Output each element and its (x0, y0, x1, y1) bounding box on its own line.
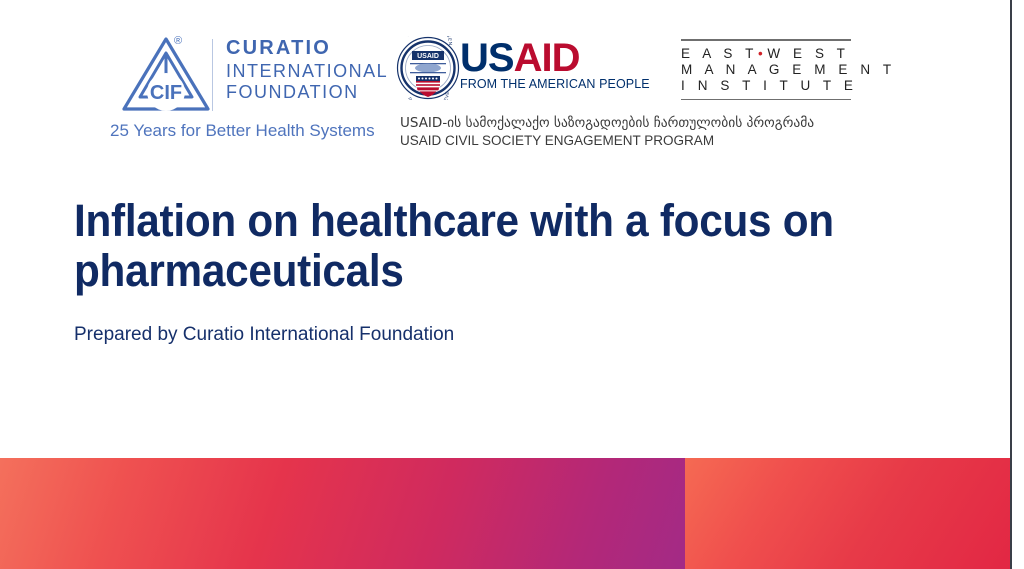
curatio-logo: CIF ® CURATIO INTERNATIONAL FOUNDATION 2… (108, 33, 378, 153)
usaid-logo: UNITED STATES AGENCY INTERNATIONAL DEVEL… (396, 36, 621, 104)
ewmi-line-1-east: E A S T (681, 46, 758, 61)
logo-divider (212, 39, 213, 111)
slide-right-border (1010, 0, 1012, 569)
svg-text:CIF: CIF (150, 82, 182, 104)
usaid-tagline: FROM THE AMERICAN PEOPLE (460, 77, 620, 91)
curatio-wordmark: CURATIO INTERNATIONAL FOUNDATION (226, 37, 376, 103)
program-name-block: USAID-ის სამოქალაქო საზოგადოების ჩართულო… (400, 114, 920, 150)
slide-right-gutter (1012, 0, 1024, 569)
ewmi-line-1-west: W E S T (767, 46, 849, 61)
curatio-wordmark-line-1: CURATIO (226, 37, 376, 61)
ewmi-logo: E A S T•W E S T M A N A G E M E N T I N … (681, 39, 851, 101)
cif-triangle-mark-icon: CIF (120, 35, 212, 113)
ewmi-line-3: I N S T I T U T E (681, 78, 851, 94)
usaid-seal-icon: UNITED STATES AGENCY INTERNATIONAL DEVEL… (396, 36, 460, 100)
registered-trademark-icon: ® (174, 35, 182, 47)
title-block: Inflation on healthcare with a focus on … (74, 196, 954, 296)
ewmi-top-rule (681, 39, 851, 41)
curatio-wordmark-line-2: INTERNATIONAL (226, 61, 376, 82)
usaid-wordmark: USAID FROM THE AMERICAN PEOPLE (460, 37, 620, 91)
svg-text:USAID: USAID (417, 53, 439, 60)
ewmi-line-1: E A S T•W E S T (681, 46, 851, 62)
ewmi-bottom-rule (681, 99, 851, 101)
title-slide: CIF ® CURATIO INTERNATIONAL FOUNDATION 2… (0, 0, 1024, 569)
page-title: Inflation on healthcare with a focus on … (74, 196, 901, 296)
ewmi-separator-dot-icon: • (758, 46, 767, 61)
bottom-decorative-band (0, 458, 1010, 569)
program-name-georgian: USAID-ის სამოქალაქო საზოგადოების ჩართულო… (400, 114, 920, 132)
usaid-wordmark-us: US (460, 36, 514, 80)
band-left-panel (0, 458, 685, 569)
band-right-panel (685, 458, 1010, 569)
usaid-wordmark-aid: AID (514, 36, 580, 80)
ewmi-line-2: M A N A G E M E N T (681, 62, 851, 78)
curatio-tagline: 25 Years for Better Health Systems (110, 121, 375, 141)
page-subtitle: Prepared by Curatio International Founda… (74, 324, 454, 346)
partner-logo-bar: CIF ® CURATIO INTERNATIONAL FOUNDATION 2… (0, 0, 1010, 165)
program-name-english: USAID CIVIL SOCIETY ENGAGEMENT PROGRAM (400, 132, 920, 150)
curatio-wordmark-line-3: FOUNDATION (226, 82, 376, 103)
